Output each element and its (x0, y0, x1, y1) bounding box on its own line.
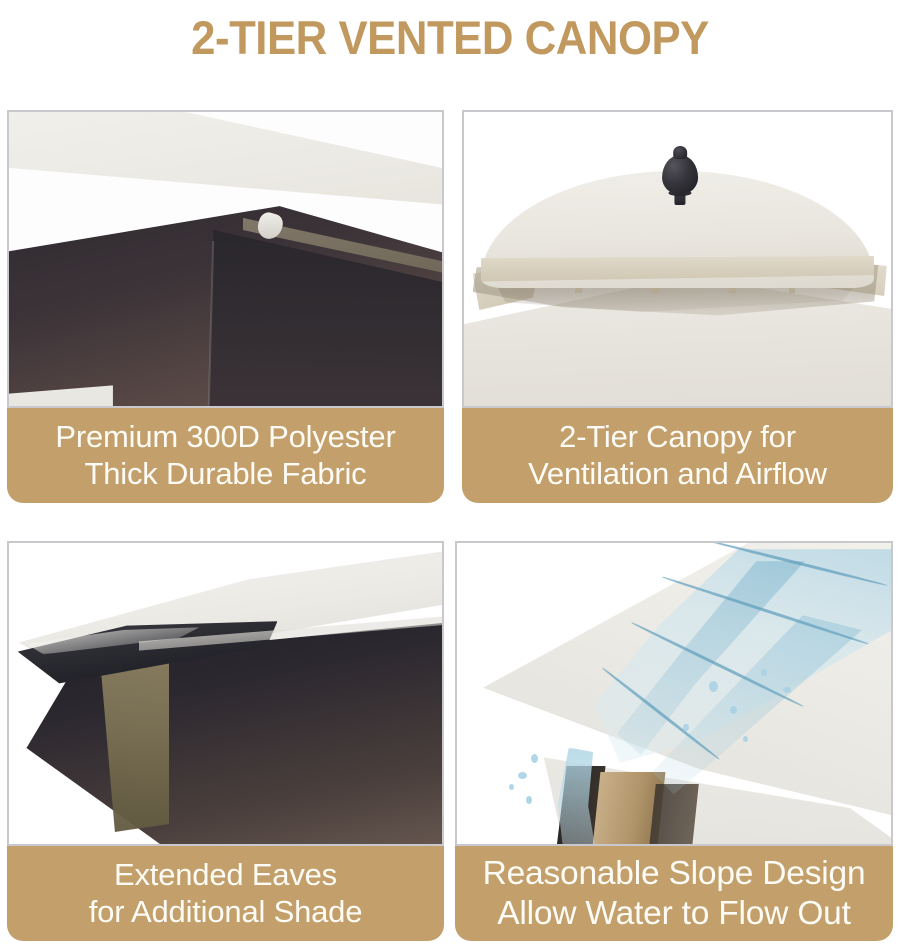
feature-card-premium-fabric: Premium 300D Polyester Thick Durable Fab… (7, 110, 444, 503)
feature-caption-slope-drainage: Reasonable Slope Design Allow Water to F… (455, 846, 893, 941)
caption-line-2: Ventilation and Airflow (528, 456, 827, 493)
caption-line-2: Thick Durable Fabric (85, 456, 367, 493)
feature-caption-two-tier-vent: 2-Tier Canopy for Ventilation and Airflo… (462, 408, 893, 503)
caption-line-2: Allow Water to Flow Out (497, 894, 850, 934)
extended-eave-illustration (9, 543, 442, 844)
infographic-page: 2-TIER VENTED CANOPY Premium 300D Polyes… (0, 0, 900, 948)
canopy-fabric-closeup-illustration (9, 112, 442, 406)
feature-photo-two-tier-vent (462, 110, 893, 408)
feature-card-two-tier-vent: 2-Tier Canopy for Ventilation and Airflo… (462, 110, 893, 503)
caption-line-1: Premium 300D Polyester (55, 419, 395, 456)
water-runoff-illustration (457, 543, 891, 844)
feature-photo-premium-fabric (7, 110, 444, 408)
feature-photo-slope-drainage (455, 541, 893, 846)
caption-line-1: Extended Eaves (114, 857, 337, 894)
caption-line-2: for Additional Shade (89, 894, 363, 931)
caption-line-1: Reasonable Slope Design (483, 854, 866, 894)
feature-caption-extended-eaves: Extended Eaves for Additional Shade (7, 846, 444, 941)
feature-caption-premium-fabric: Premium 300D Polyester Thick Durable Fab… (7, 408, 444, 503)
feature-card-slope-drainage: Reasonable Slope Design Allow Water to F… (455, 541, 893, 941)
feature-photo-extended-eaves (7, 541, 444, 846)
page-title: 2-TIER VENTED CANOPY (32, 8, 869, 68)
caption-line-1: 2-Tier Canopy for (559, 419, 796, 456)
feature-card-extended-eaves: Extended Eaves for Additional Shade (7, 541, 444, 941)
two-tier-canopy-illustration (464, 112, 891, 406)
